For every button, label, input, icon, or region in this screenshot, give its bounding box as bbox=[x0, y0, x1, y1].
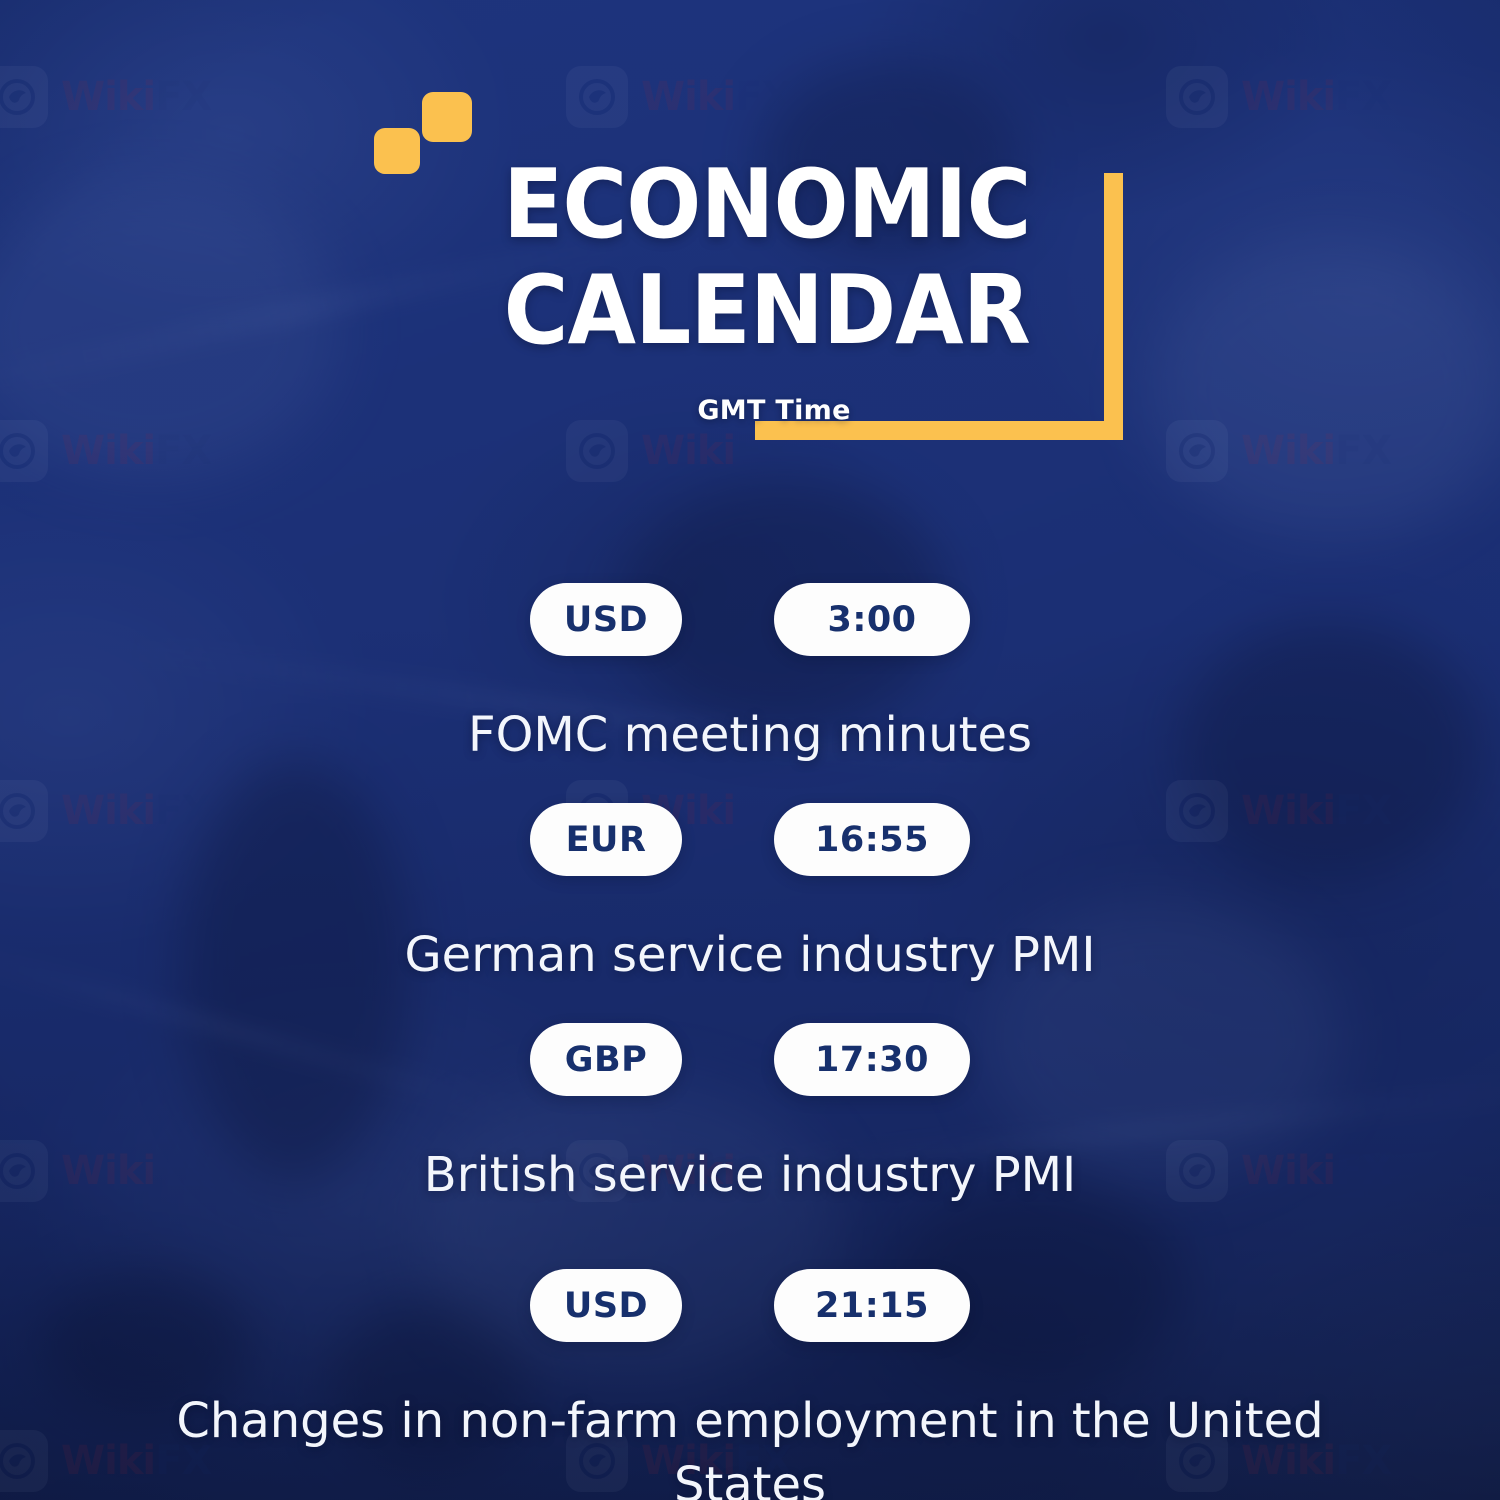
page-title: ECONOMIC CALENDAR bbox=[0, 152, 1500, 364]
event-pill-row: GBP 17:30 bbox=[0, 1023, 1500, 1096]
two-squares-logo-icon bbox=[374, 92, 472, 174]
currency-badge[interactable]: EUR bbox=[530, 803, 682, 876]
event-description: British service industry PMI bbox=[0, 1143, 1500, 1207]
event-description: Changes in non-farm employment in the Un… bbox=[0, 1389, 1500, 1500]
event-item: USD 21:15 Changes in non-farm employment… bbox=[0, 1269, 1500, 1500]
title-line-1: ECONOMIC bbox=[53, 152, 1448, 258]
title-line-2: CALENDAR bbox=[53, 258, 1448, 364]
currency-badge[interactable]: GBP bbox=[530, 1023, 682, 1096]
event-pill-row: USD 21:15 bbox=[0, 1269, 1500, 1342]
time-badge[interactable]: 17:30 bbox=[774, 1023, 970, 1096]
time-badge[interactable]: 16:55 bbox=[774, 803, 970, 876]
time-badge[interactable]: 21:15 bbox=[774, 1269, 970, 1342]
time-badge[interactable]: 3:00 bbox=[774, 583, 970, 656]
event-item: USD 3:00 FOMC meeting minutes bbox=[0, 583, 1500, 767]
event-description: German service industry PMI bbox=[0, 923, 1500, 987]
event-pill-row: EUR 16:55 bbox=[0, 803, 1500, 876]
currency-badge[interactable]: USD bbox=[530, 583, 682, 656]
event-item: EUR 16:55 German service industry PMI bbox=[0, 803, 1500, 987]
currency-badge[interactable]: USD bbox=[530, 1269, 682, 1342]
economic-calendar-poster: WikiFX WikiFX WikiFX WikiFX WikiFX bbox=[0, 0, 1500, 1500]
events-list: USD 3:00 FOMC meeting minutes EUR 16:55 … bbox=[0, 583, 1500, 1500]
event-pill-row: USD 3:00 bbox=[0, 583, 1500, 656]
event-item: GBP 17:30 British service industry PMI bbox=[0, 1023, 1500, 1207]
event-description: FOMC meeting minutes bbox=[0, 703, 1500, 767]
subtitle-gmt-time: GMT Time bbox=[0, 395, 1500, 426]
